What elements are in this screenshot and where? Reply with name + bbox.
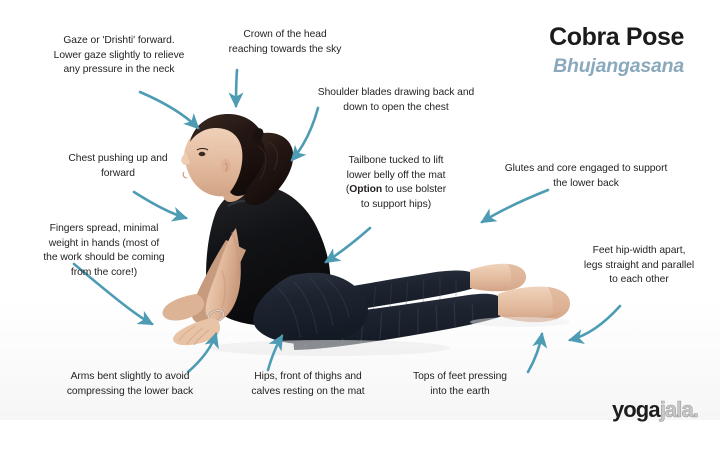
annotation-tailbone-option: Option bbox=[349, 184, 382, 195]
annotation-tailbone-line-2: lower belly off the mat bbox=[328, 169, 464, 184]
logo-text-secondary: jala. bbox=[660, 397, 698, 422]
annotation-tailbone-line-3-rest: to use bolster bbox=[382, 184, 446, 195]
sanskrit-subtitle: Bhujangasana bbox=[549, 54, 684, 79]
annotation-gaze: Gaze or 'Drishti' forward. Lower gaze sl… bbox=[26, 34, 212, 78]
annotation-chest: Chest pushing up and forward bbox=[36, 152, 200, 181]
arrow-tops-of-feet bbox=[528, 334, 542, 372]
annotation-hips-thighs: Hips, front of thighs and calves resting… bbox=[230, 370, 386, 399]
logo-text-primary: yoga bbox=[612, 397, 660, 422]
annotation-tailbone-line-4: to support hips) bbox=[328, 198, 464, 213]
arrow-shoulder-blades bbox=[292, 108, 318, 160]
annotation-tops-of-feet: Tops of feet pressing into the earth bbox=[390, 370, 530, 399]
annotation-tailbone: Tailbone tucked to lift lower belly off … bbox=[328, 154, 464, 212]
annotation-fingers: Fingers spread, minimal weight in hands … bbox=[24, 222, 184, 280]
page-title: Cobra Pose bbox=[549, 22, 684, 52]
yogajala-logo[interactable]: yogajala. bbox=[612, 397, 698, 423]
annotation-tailbone-line-1: Tailbone tucked to lift bbox=[328, 154, 464, 169]
arrow-glutes bbox=[482, 190, 548, 222]
arrow-chest bbox=[134, 192, 186, 218]
arrow-arms-bent bbox=[188, 334, 216, 372]
arrow-feet-hip-width bbox=[570, 306, 620, 340]
annotation-tailbone-line-3: (Option to use bolster bbox=[328, 183, 464, 198]
title-block: Cobra Pose Bhujangasana bbox=[549, 22, 684, 79]
annotation-shoulder-blades: Shoulder blades drawing back and down to… bbox=[292, 86, 500, 115]
annotation-feet-hip-width: Feet hip-width apart, legs straight and … bbox=[564, 244, 714, 288]
arrow-hips-thighs bbox=[268, 336, 282, 370]
arrow-tailbone bbox=[326, 228, 370, 262]
annotation-crown: Crown of the head reaching towards the s… bbox=[205, 28, 365, 57]
annotation-glutes: Glutes and core engaged to support the l… bbox=[476, 162, 696, 191]
infographic-canvas: Cobra Pose Bhujangasana Gaze or 'Drishti… bbox=[0, 0, 720, 451]
annotation-arms-bent: Arms bent slightly to avoid compressing … bbox=[36, 370, 224, 399]
arrow-crown bbox=[236, 70, 237, 106]
arrow-gaze bbox=[140, 92, 198, 128]
